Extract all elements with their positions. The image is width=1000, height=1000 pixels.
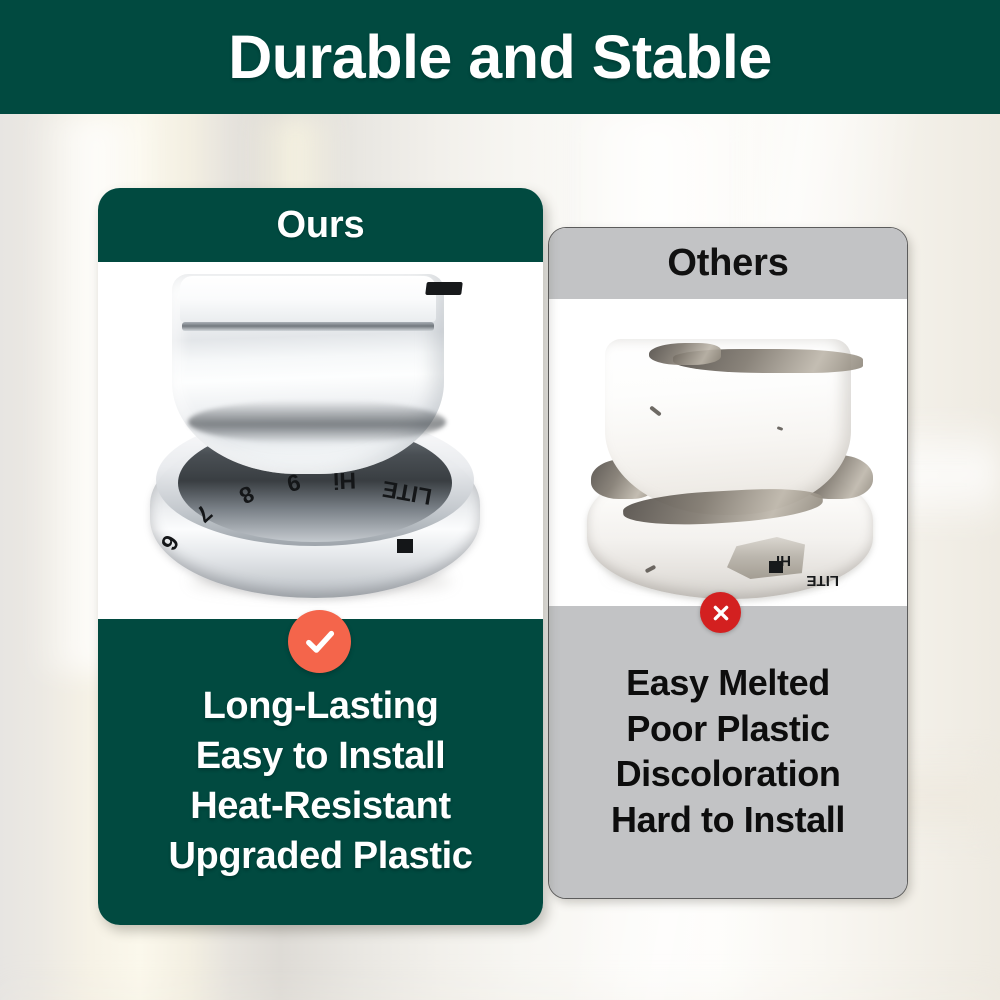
dial-label-lite: LITE	[380, 475, 434, 510]
ours-benefit-line: Long-Lasting	[98, 681, 543, 731]
ours-benefit-line: Easy to Install	[98, 731, 543, 781]
knob-handle-top	[180, 276, 436, 322]
comparison-card-ours: Ours 6 7 8 9 Hi LITE	[98, 188, 543, 925]
knob-gloss-line	[182, 322, 434, 331]
others-drawbacks-panel: Easy Melted Poor Plastic Discoloration H…	[549, 606, 907, 898]
page-title: Durable and Stable	[228, 27, 772, 88]
ours-benefit-line: Heat-Resistant	[98, 781, 543, 831]
close-icon	[709, 601, 733, 625]
others-drawback-line: Poor Plastic	[549, 706, 907, 752]
dial-label-9: 9	[284, 468, 303, 497]
comparison-card-others: Others LITE Hi	[548, 227, 908, 899]
others-knob-illustration: LITE Hi	[577, 309, 883, 603]
ours-header-label: Ours	[277, 204, 365, 247]
knob-shadow-band	[188, 400, 446, 444]
dial-label-lite: LITE	[807, 572, 840, 589]
check-circle-icon	[288, 610, 351, 673]
knob-burn-mark	[649, 343, 721, 365]
others-card-header: Others	[549, 228, 907, 299]
dial-label-7: 7	[190, 499, 218, 528]
others-drawback-line: Hard to Install	[549, 797, 907, 843]
ours-benefit-line: Upgraded Plastic	[98, 831, 543, 881]
background-highlight-band	[0, 974, 1000, 1000]
infographic-stage: Durable and Stable Others LITE	[0, 0, 1000, 1000]
ours-card-header: Ours	[98, 188, 543, 262]
others-product-photo: LITE Hi	[549, 299, 907, 606]
others-drawback-line: Discoloration	[549, 751, 907, 797]
dial-indicator-square	[397, 539, 413, 553]
others-header-label: Others	[667, 242, 788, 285]
x-circle-icon	[700, 592, 741, 633]
header-banner: Durable and Stable	[0, 0, 1000, 114]
others-drawback-line: Easy Melted	[549, 660, 907, 706]
ours-knob-illustration: 6 7 8 9 Hi LITE	[144, 274, 496, 604]
dial-label-hi: Hi	[333, 467, 357, 495]
knob-dial-markings: 6 7 8 9 Hi LITE	[144, 452, 496, 572]
check-icon	[302, 624, 338, 660]
ours-product-photo: 6 7 8 9 Hi LITE	[98, 262, 543, 619]
knob-pointer-mark	[425, 282, 463, 295]
dial-label-8: 8	[235, 480, 259, 510]
dial-label-6: 6	[155, 530, 185, 555]
dial-indicator-square	[769, 561, 783, 573]
